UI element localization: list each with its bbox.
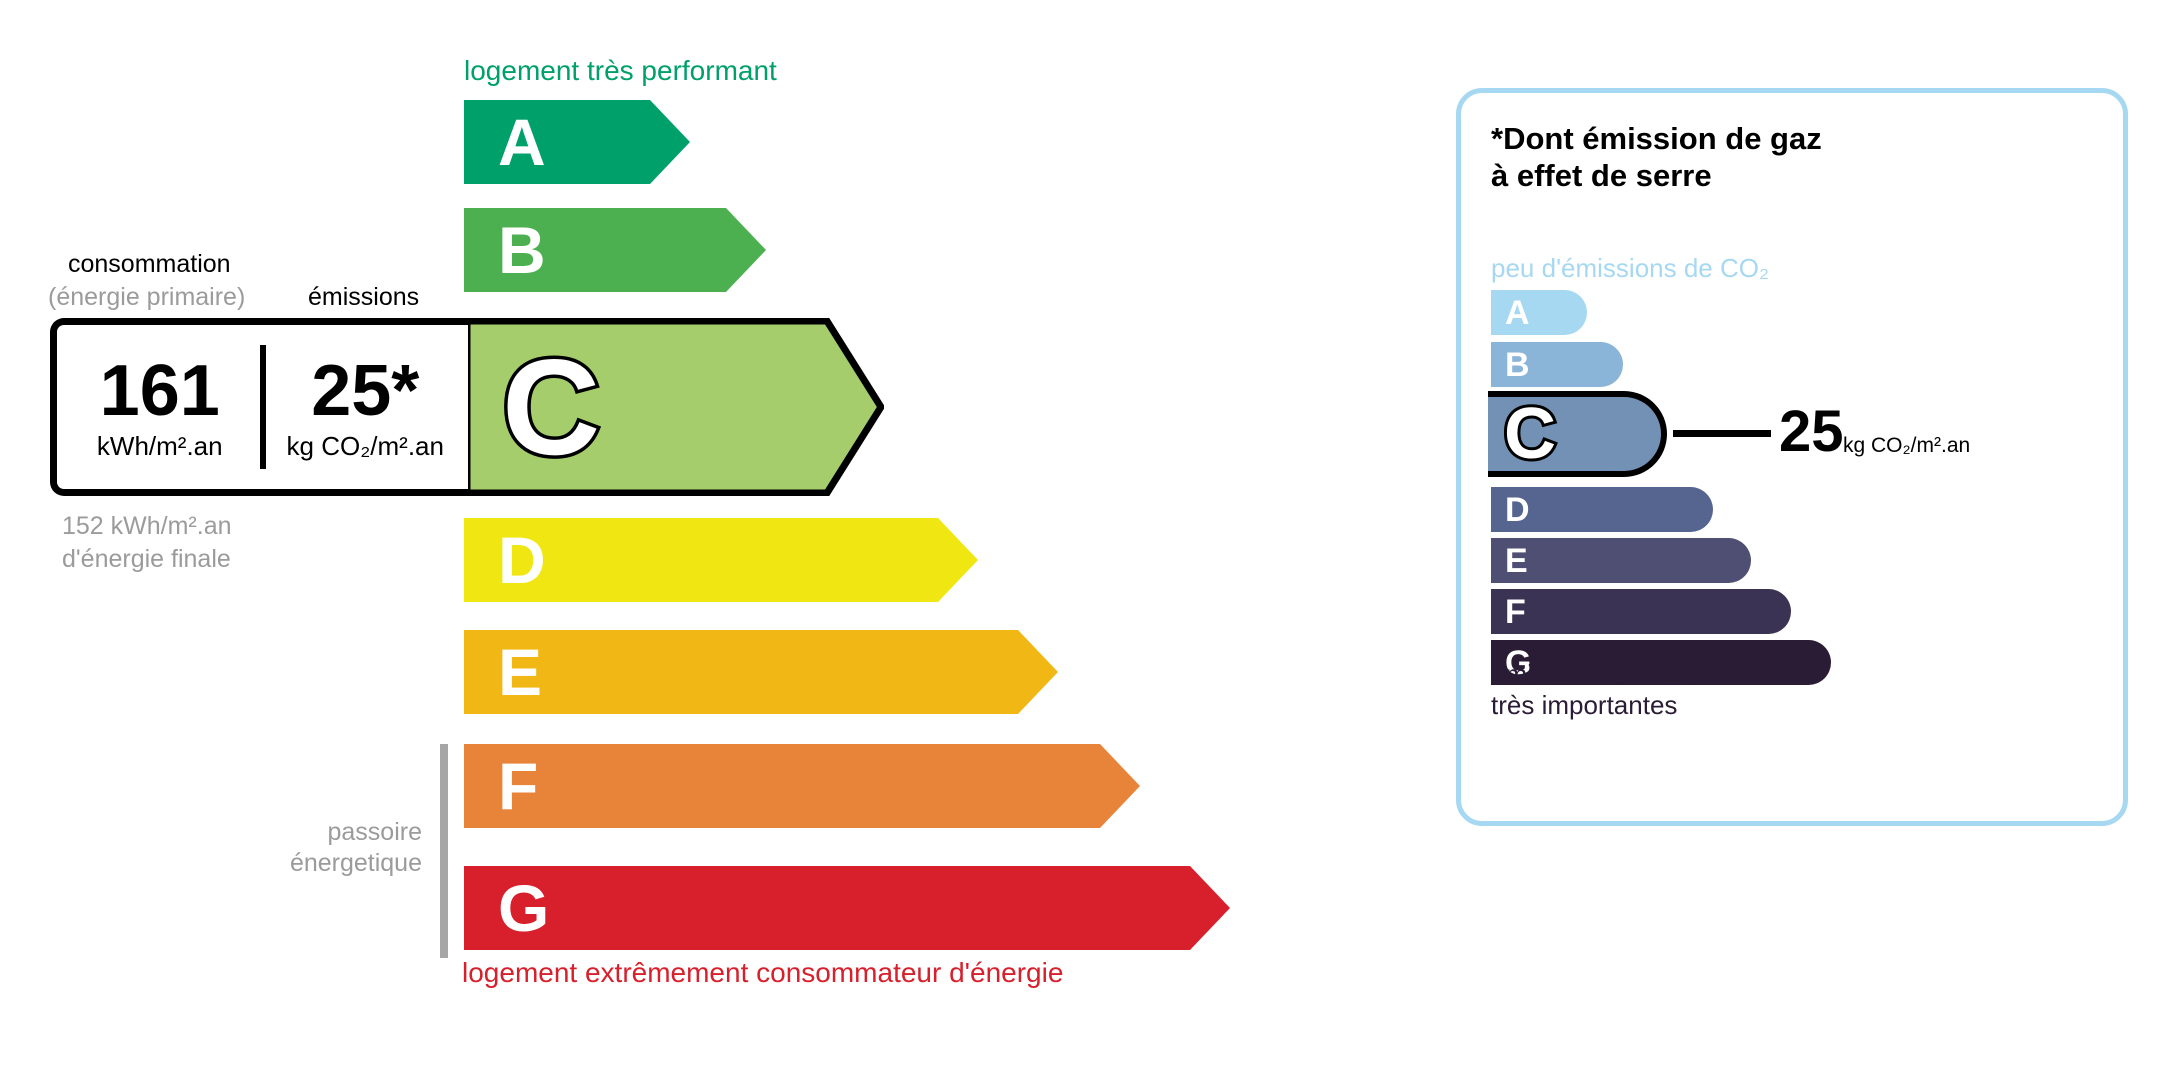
band-g-letter: G xyxy=(498,875,549,941)
energy-band-b[interactable]: B xyxy=(464,208,766,292)
co2-band-e-letter: E xyxy=(1505,544,1528,578)
co2-title-line-2: à effet de serre xyxy=(1491,158,1822,195)
band-f-arrow-shape xyxy=(464,744,1140,828)
band-c-letter: C xyxy=(502,339,600,475)
band-f-letter: F xyxy=(498,753,538,819)
co2-band-d-letter: D xyxy=(1505,493,1530,527)
co2-band-e[interactable]: E xyxy=(1491,538,1751,583)
energy-band-g[interactable]: G xyxy=(464,866,1230,950)
co2-top-caption: peu d'émissions de CO₂ xyxy=(1491,253,1769,284)
energy-band-a[interactable]: A xyxy=(464,100,690,184)
co2-band-f[interactable]: F xyxy=(1491,589,1791,634)
consumption-unit: kWh/m².an xyxy=(97,433,223,459)
co2-value-leader-line xyxy=(1673,430,1771,437)
co2-band-c-letter: C xyxy=(1504,398,1556,470)
emissions-unit: kg CO₂/m².an xyxy=(287,433,444,459)
co2-band-d[interactable]: D xyxy=(1491,487,1713,532)
co2-bottom-caption: émissions de CO₂ très importantes xyxy=(1491,659,1699,720)
emissions-value: 25* xyxy=(311,355,419,427)
co2-band-a-letter: A xyxy=(1505,296,1530,330)
co2-band-f-letter: F xyxy=(1505,595,1526,629)
co2-bottom-line-2: très importantes xyxy=(1491,690,1699,721)
consumption-header-label: consommation xyxy=(68,250,231,279)
co2-band-a[interactable]: A xyxy=(1491,290,1587,335)
passoire-energetique-label: passoire énergetique xyxy=(200,817,422,878)
energy-performance-diagram: logement très performant A B C D E xyxy=(0,0,1400,1079)
co2-band-b[interactable]: B xyxy=(1491,342,1623,387)
consumption-subheader-label: (énergie primaire) xyxy=(48,283,245,312)
passoire-line-1: passoire xyxy=(200,817,422,848)
co2-panel-title: *Dont émission de gaz à effet de serre xyxy=(1491,121,1822,194)
co2-title-line-1: *Dont émission de gaz xyxy=(1491,121,1822,158)
consumption-value-cell: 161 kWh/m².an xyxy=(57,325,263,489)
final-energy-label: d'énergie finale xyxy=(62,545,231,574)
passoire-energetique-bracket xyxy=(440,744,448,958)
band-d-letter: D xyxy=(498,527,546,593)
energy-band-d[interactable]: D xyxy=(464,518,978,602)
energy-band-c-selected[interactable]: C xyxy=(464,318,884,496)
energy-bottom-caption: logement extrêmement consommateur d'éner… xyxy=(462,957,1063,989)
co2-selected-value: 25 xyxy=(1779,403,1844,461)
band-e-arrow-shape xyxy=(464,630,1058,714)
final-energy-value: 152 kWh/m².an xyxy=(62,512,232,541)
emissions-value-cell: 25* kg CO₂/m².an xyxy=(263,325,469,489)
band-a-letter: A xyxy=(498,109,546,175)
energy-band-e[interactable]: E xyxy=(464,630,1058,714)
consumption-value: 161 xyxy=(100,355,220,427)
co2-bottom-line-1: émissions de CO₂ xyxy=(1491,659,1699,690)
band-e-letter: E xyxy=(498,639,542,705)
co2-band-c-selected[interactable]: C xyxy=(1488,391,1667,477)
co2-selected-value-unit: kg CO₂/m².an xyxy=(1843,434,1970,458)
energy-value-box: 161 kWh/m².an 25* kg CO₂/m².an xyxy=(50,318,468,496)
band-b-letter: B xyxy=(498,217,546,283)
energy-top-caption: logement très performant xyxy=(464,55,777,87)
passoire-line-2: énergetique xyxy=(200,848,422,879)
band-g-arrow-shape xyxy=(464,866,1230,950)
co2-band-b-letter: B xyxy=(1505,348,1530,382)
co2-emissions-panel: *Dont émission de gaz à effet de serre p… xyxy=(1456,88,2128,826)
energy-band-f[interactable]: F xyxy=(464,744,1140,828)
emissions-header-label: émissions xyxy=(308,283,419,312)
